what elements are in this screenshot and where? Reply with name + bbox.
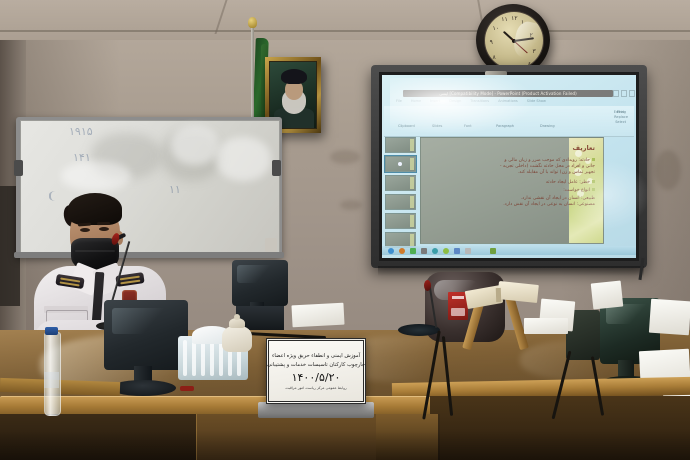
- keyboard-paper: [524, 318, 568, 334]
- wall-scuff: [330, 150, 360, 164]
- sugar-pot: [222, 326, 252, 352]
- slide-thumbnail-panel[interactable]: [385, 137, 417, 242]
- taskbar-icon-explorer[interactable]: [410, 248, 416, 254]
- placard-footer: روابط عمومی مرکز ریاست امور مراقبت: [285, 386, 346, 390]
- ribbon-find-item[interactable]: Find: [617, 110, 624, 114]
- whiteboard-ink-2: ۱۴۱: [73, 151, 91, 164]
- sugar-pot-knob: [234, 314, 240, 320]
- window-controls[interactable]: [613, 90, 635, 97]
- clock-numeral-11: ١١: [501, 16, 507, 23]
- whiteboard-corner-clip: [265, 238, 277, 252]
- whiteboard-clip: [14, 160, 23, 176]
- whiteboard-ink-1: ۱۹۱۵: [69, 125, 93, 138]
- whiteboard-glare: [216, 137, 271, 181]
- monitor-center: [104, 300, 188, 370]
- paper-sheet: [591, 281, 624, 310]
- slide-title: تعاریف: [573, 144, 595, 152]
- officer-eyebrow-right: [97, 222, 110, 225]
- paper-sheet: [649, 299, 690, 336]
- smartboard-glare: [390, 78, 540, 136]
- slide-thumbnail[interactable]: [385, 213, 416, 229]
- taskbar-icon-folder[interactable]: [421, 248, 427, 254]
- water-bottle-label: [44, 372, 59, 388]
- sticker-block: [451, 308, 465, 316]
- taskbar-icon-misc[interactable]: [465, 248, 471, 254]
- ribbon-group-drawing: Drawing: [540, 124, 555, 128]
- clock-numeral-10: ١٠: [493, 25, 499, 32]
- minimize-icon[interactable]: [613, 90, 619, 97]
- clock-face: ١٢ ١ ٢ ٣ ٤ ٥ ٦ ٧ ٨ ٩ ١٠ ١١: [484, 11, 544, 70]
- whiteboard-glare: [171, 125, 219, 165]
- classroom-scene: ۱۹۱۵ ۱۴۱ ١١ ١٢ ١ ٢ ٣ ٤ ٥ ٦ ٧ ٨ ٩ ١٠ ١١ C…: [0, 0, 690, 460]
- smartboard-shadow: [378, 266, 644, 276]
- officer-hair: [68, 193, 122, 225]
- foreground-vignette: [0, 430, 690, 460]
- clock-numeral-12: ١٢: [511, 15, 517, 22]
- windows-taskbar[interactable]: [382, 246, 636, 255]
- wall-scuff: [340, 200, 362, 210]
- maximize-icon[interactable]: [621, 90, 627, 97]
- slide-thumbnail[interactable]: [385, 137, 416, 153]
- microphone-head-icon: [424, 280, 431, 291]
- ribbon-replace-item[interactable]: Replace: [614, 115, 628, 119]
- taskbar-icon-start[interactable]: [388, 248, 394, 254]
- sticker-line: [452, 296, 464, 299]
- whiteboard-glare: [61, 161, 131, 191]
- ceiling-seam: [0, 30, 690, 32]
- monitor-left: [232, 260, 288, 306]
- paper-sheet: [291, 303, 344, 328]
- mask-fold: [75, 250, 115, 252]
- placard-date: ۱۴۰۰/۵/۲۰: [292, 371, 341, 384]
- taskbar-icon-media[interactable]: [432, 248, 438, 254]
- clock-numeral-9: ٩: [490, 39, 493, 46]
- slide-thumbnail[interactable]: [385, 175, 416, 191]
- portrait-turban: [281, 69, 307, 84]
- monitor-right-base: [398, 324, 440, 336]
- smartboard-glare: [560, 160, 650, 230]
- whiteboard-clip: [272, 160, 281, 176]
- quran-spine: [496, 288, 501, 302]
- clock-numeral-8: ٨: [493, 54, 496, 61]
- event-placard: آموزش ایمنی و انطفاء حریق ویژه اعضاء چار…: [266, 338, 366, 404]
- slide-thumbnail[interactable]: [385, 156, 416, 172]
- clock-glass-glare: [512, 20, 544, 61]
- placard-line-1: آموزش ایمنی و انطفاء حریق ویژه اعضاء: [272, 353, 360, 360]
- ribbon-select-item[interactable]: Select: [615, 120, 626, 124]
- officer-eye-left: [80, 228, 90, 232]
- taskbar-icon-powerpoint[interactable]: [490, 248, 496, 254]
- cable-connector: [180, 386, 194, 391]
- water-bottle-cap: [45, 327, 58, 335]
- flag-finial-icon: [248, 17, 257, 28]
- taskbar-icon-app[interactable]: [443, 248, 449, 254]
- officer-eye-right: [99, 227, 109, 231]
- slide-thumbnail[interactable]: [385, 194, 416, 210]
- taskbar-icon-firefox[interactable]: [399, 248, 405, 254]
- close-icon[interactable]: [629, 90, 635, 97]
- placard-line-2: چارچوب کارکنان تاسیسات خدمات و پشتیبانی: [267, 362, 365, 369]
- taskbar-icon-word[interactable]: [454, 248, 460, 254]
- placard-stand: [258, 402, 374, 418]
